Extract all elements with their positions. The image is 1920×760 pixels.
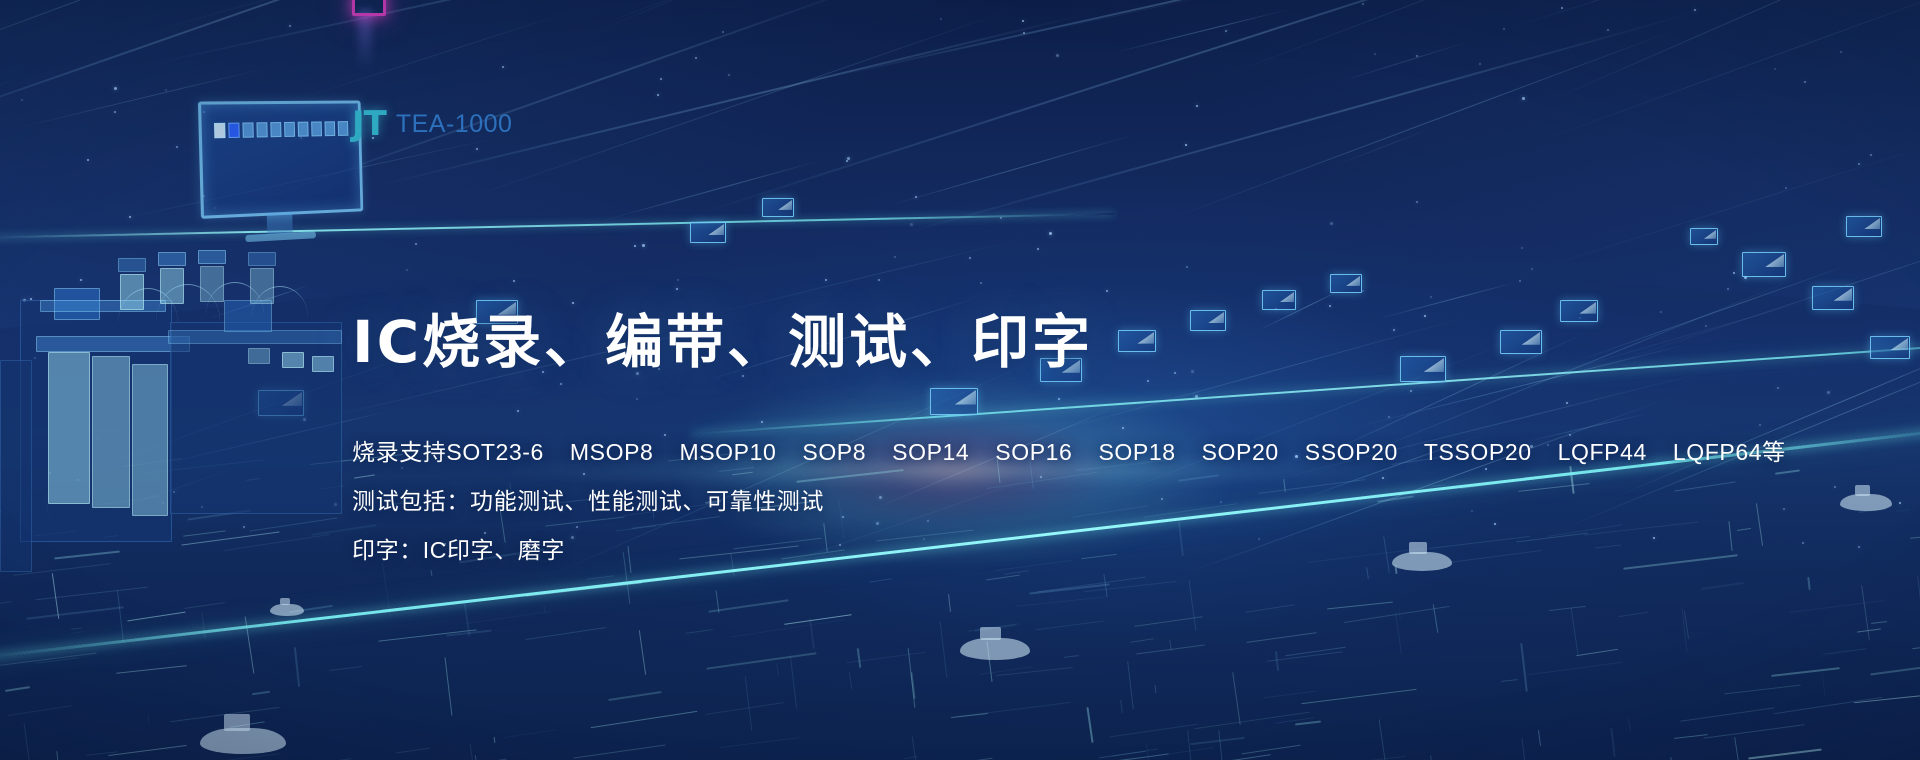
particle: [642, 244, 645, 247]
monitor-chip: [242, 122, 253, 137]
monitor-chip: [298, 122, 309, 137]
banner-content: IC烧录、编带、测试、印字 烧录支持SOT23-6MSOP8MSOP10SOP8…: [352, 310, 1612, 562]
particle: [1759, 424, 1761, 426]
package-item: SOP18: [1098, 441, 1175, 464]
particle: [846, 160, 848, 162]
package-item: SSOP20: [1305, 441, 1398, 464]
monitor-chip: [228, 123, 240, 138]
particle: [1858, 163, 1860, 165]
particle: [23, 299, 26, 302]
particle: [1834, 486, 1836, 488]
package-item: SOP8: [802, 441, 866, 464]
particle: [1840, 51, 1842, 53]
brand-model-text: TEA-1000: [396, 110, 513, 139]
package-item: MSOP8: [570, 441, 654, 464]
floor-device: [960, 638, 1030, 660]
package-item: LQFP64等: [1673, 441, 1786, 464]
wall-panel: [1262, 290, 1296, 310]
ceiling-light-beam: [358, 10, 372, 70]
particle: [695, 57, 697, 59]
wall-panel: [762, 198, 794, 217]
particle: [969, 257, 971, 259]
monitor-chip: [338, 121, 349, 136]
monitor-chip: [256, 122, 267, 137]
floor-device: [270, 604, 304, 616]
spec-line-burn: 烧录支持SOT23-6MSOP8MSOP10SOP8SOP14SOP16SOP1…: [352, 441, 1612, 464]
wall-panel: [1846, 216, 1882, 237]
particle: [513, 280, 515, 282]
particle: [572, 302, 574, 304]
promo-banner: JT TEA-1000 IC烧录、编带、测试、印字 烧录支持SOT23-6MSO…: [0, 0, 1920, 760]
particle: [1522, 97, 1525, 100]
floor-device: [1840, 494, 1892, 511]
floor-device: [200, 728, 286, 754]
particle: [660, 78, 662, 80]
workstation-monitor: [198, 100, 363, 218]
package-item: SOT23-6: [446, 441, 544, 464]
particle: [634, 245, 636, 247]
particle: [728, 74, 730, 76]
particle: [825, 279, 827, 281]
package-item: LQFP44: [1558, 441, 1647, 464]
particle: [34, 357, 36, 359]
particle: [878, 279, 880, 281]
particle: [677, 279, 679, 281]
particle: [1521, 247, 1523, 249]
particle: [1022, 20, 1024, 22]
particle: [1561, 7, 1563, 9]
particle: [1329, 305, 1331, 307]
monitor-stand: [267, 212, 293, 235]
particle: [1607, 29, 1609, 31]
particle: [1777, 387, 1779, 389]
particle: [1653, 537, 1655, 539]
particle: [114, 111, 116, 113]
monitor-chip-row: [214, 121, 348, 138]
banner-title: IC烧录、编带、测试、印字: [352, 310, 1612, 375]
particle: [114, 87, 117, 90]
particle: [162, 502, 164, 504]
particle: [1374, 53, 1376, 55]
particle: [1106, 290, 1108, 292]
package-item: SOP16: [995, 441, 1072, 464]
particle: [940, 18, 942, 20]
monitor-chip: [324, 121, 335, 136]
monitor-chip: [311, 121, 322, 136]
particle: [1705, 325, 1707, 327]
particle: [1196, 105, 1198, 107]
wall-panel: [1812, 286, 1854, 310]
wall-panel: [1690, 228, 1718, 245]
brand-logo-text: JT: [352, 104, 386, 144]
package-item: SOP20: [1202, 441, 1279, 464]
wall-panel: [258, 390, 304, 416]
wall-panel: [690, 222, 726, 243]
equipment-brand-mark: JT TEA-1000: [352, 104, 512, 144]
particle: [415, 243, 417, 245]
particle: [303, 418, 306, 421]
particle: [1049, 232, 1052, 235]
particle: [894, 256, 896, 258]
particle: [176, 146, 178, 148]
particle: [1660, 311, 1662, 313]
particle: [77, 479, 79, 481]
package-item: MSOP10: [679, 441, 776, 464]
monitor-chip: [284, 122, 295, 137]
monitor-chip: [270, 122, 281, 137]
particle: [1056, 54, 1059, 57]
particle: [915, 196, 917, 198]
particle: [980, 282, 982, 284]
particle: [676, 288, 678, 290]
burn-prefix-label: 烧录支持: [352, 439, 446, 465]
package-list: SOT23-6MSOP8MSOP10SOP8SOP14SOP16SOP18SOP…: [446, 439, 1785, 465]
particle: [21, 99, 23, 101]
spec-line-print: 印字：IC印字、磨字: [352, 539, 1612, 562]
particle: [49, 472, 51, 474]
particle: [1774, 68, 1776, 70]
particle: [1330, 222, 1333, 225]
particle: [1519, 280, 1521, 282]
monitor-chip: [214, 123, 226, 139]
package-item: SOP14: [892, 441, 969, 464]
wall-panel: [1742, 252, 1786, 277]
package-item: TSSOP20: [1424, 441, 1532, 464]
wall-panel: [1870, 336, 1910, 359]
wall-panel: [1330, 274, 1362, 293]
ceiling-light-fixture: [352, 0, 386, 16]
particle: [502, 66, 504, 68]
particle: [201, 506, 203, 508]
spec-line-test: 测试包括：功能测试、性能测试、可靠性测试: [352, 490, 1612, 513]
